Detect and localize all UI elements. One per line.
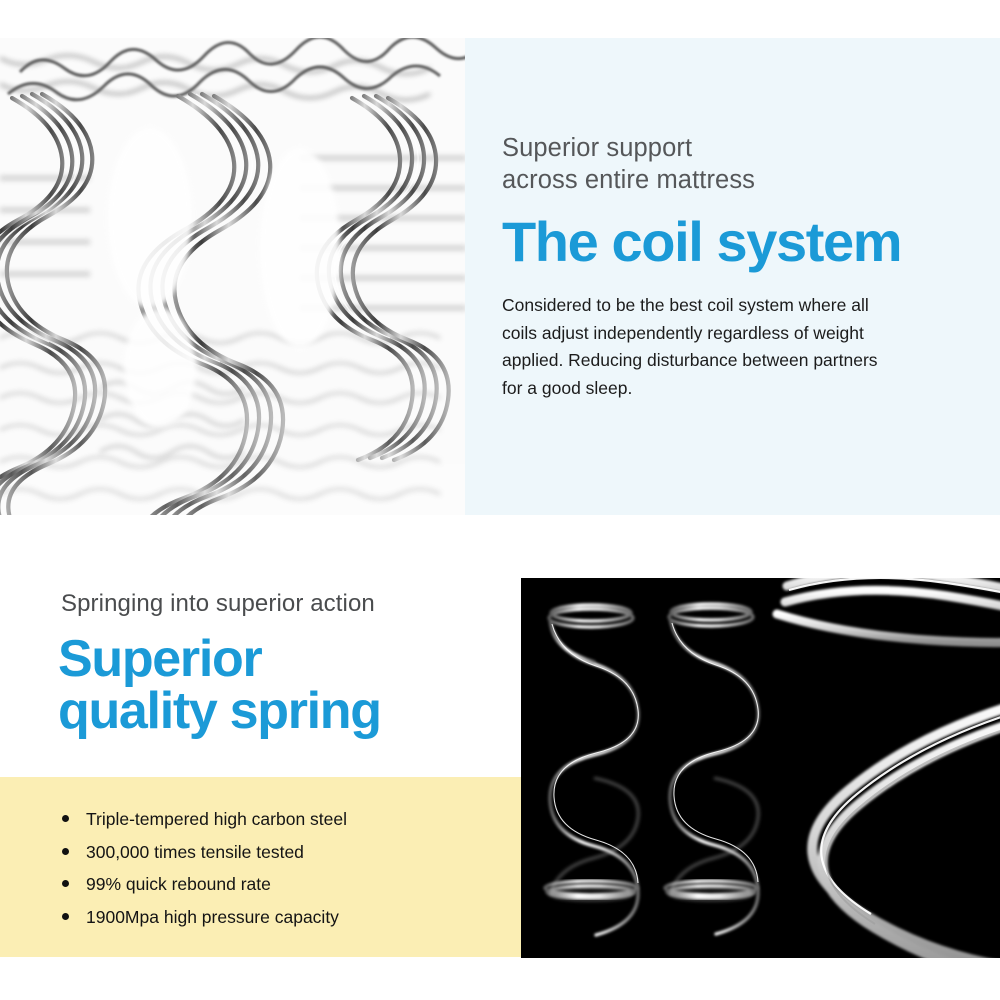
coil-system-kicker-line1: Superior support [502,132,972,164]
list-item: 300,000 times tensile tested [62,839,482,866]
bullet-dot-icon [62,913,69,920]
coil-system-body-line1: Considered to be the best coil system wh… [502,292,902,320]
coil-system-headline: The coil system [502,212,972,272]
coil-system-kicker-line2: across entire mattress [502,164,972,196]
list-item-label: 99% quick rebound rate [86,871,271,898]
list-item: Triple-tempered high carbon steel [62,806,482,833]
coil-system-kicker: Superior support across entire mattress [502,132,972,196]
coil-system-body-line3: applied. Reducing disturbance between pa… [502,347,902,375]
list-item-label: 300,000 times tensile tested [86,839,304,866]
product-feature-page: Superior support across entire mattress … [0,0,1000,1000]
coil-system-body: Considered to be the best coil system wh… [502,292,902,402]
coil-system-body-line4: for a good sleep. [502,375,902,403]
list-item: 1900Mpa high pressure capacity [62,904,482,931]
bullet-dot-icon [62,880,69,887]
springs-on-black-background-photo [521,578,1000,958]
coil-system-body-line2: coils adjust independently regardless of… [502,320,902,348]
quality-spring-headline: Superior quality spring [58,633,381,737]
bullet-dot-icon [62,815,69,822]
coil-springs-closeup-photo [0,38,466,515]
quality-spring-headline-line2: quality spring [58,685,381,737]
coil-system-text-block: Superior support across entire mattress … [502,132,972,402]
quality-spring-kicker: Springing into superior action [61,589,375,619]
list-item-label: 1900Mpa high pressure capacity [86,904,339,931]
bullet-dot-icon [62,848,69,855]
list-item-label: Triple-tempered high carbon steel [86,806,347,833]
list-item: 99% quick rebound rate [62,871,482,898]
quality-spring-headline-line1: Superior [58,633,381,685]
spec-bullet-list: Triple-tempered high carbon steel 300,00… [62,806,482,936]
